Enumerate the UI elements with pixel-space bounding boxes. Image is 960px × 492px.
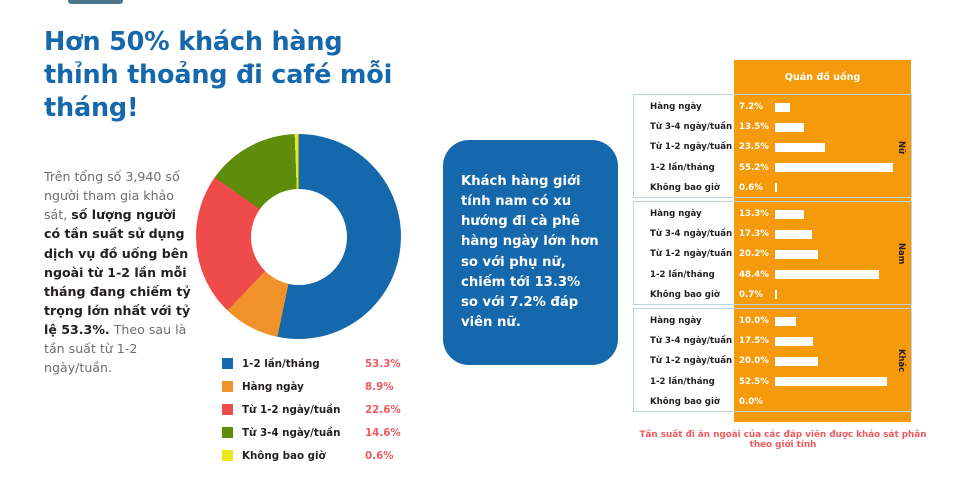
table-row: Từ 3-4 ngày/tuần17.3% <box>634 224 911 244</box>
row-value: 13.3% <box>733 209 775 219</box>
row-label: Hàng ngày <box>634 209 733 219</box>
row-label: Không bao giờ <box>634 183 733 193</box>
row-label: Không bao giờ <box>634 290 733 300</box>
legend-item: Từ 3-4 ngày/tuần14.6% <box>222 421 407 444</box>
row-label: Không bao giờ <box>634 397 733 407</box>
legend-item-value: 8.9% <box>365 381 407 393</box>
row-value: 55.2% <box>733 163 775 173</box>
insight-callout: Khách hàng giới tính nam có xu hướng đi … <box>443 140 618 365</box>
row-bar <box>775 377 887 386</box>
legend-item-label: 1-2 lần/tháng <box>242 358 365 370</box>
legend-item: Hàng ngày8.9% <box>222 375 407 398</box>
donut-chart <box>196 134 401 339</box>
row-bar <box>775 183 777 192</box>
legend-swatch-icon <box>222 404 233 415</box>
gender-group-female: Hàng ngày7.2%Từ 3-4 ngày/tuần13.5%Từ 1-2… <box>633 94 912 198</box>
donut-chart-legend: 1-2 lần/tháng53.3%Hàng ngày8.9%Từ 1-2 ng… <box>222 352 407 467</box>
row-label: Từ 1-2 ngày/tuần <box>634 249 733 259</box>
row-label: 1-2 lần/tháng <box>634 163 733 173</box>
row-bar <box>775 317 796 326</box>
table-row: Từ 3-4 ngày/tuần17.5% <box>634 331 911 351</box>
row-bar <box>775 357 818 366</box>
row-value: 20.0% <box>733 356 775 366</box>
legend-item: Không bao giờ0.6% <box>222 444 407 467</box>
panel-caption: Tần suất đi ăn ngoài của các đáp viên đư… <box>633 430 933 450</box>
legend-item-value: 53.3% <box>365 358 407 370</box>
row-value: 0.6% <box>733 183 775 193</box>
row-label: Từ 3-4 ngày/tuần <box>634 122 733 132</box>
insight-callout-text: Khách hàng giới tính nam có xu hướng đi … <box>461 172 600 333</box>
row-label: Từ 1-2 ngày/tuần <box>634 356 733 366</box>
legend-item: 1-2 lần/tháng53.3% <box>222 352 407 375</box>
row-value: 0.0% <box>733 397 775 407</box>
legend-item-label: Từ 3-4 ngày/tuần <box>242 427 365 439</box>
gender-group-label: Khác <box>891 309 913 413</box>
table-row: Không bao giờ0.6% <box>634 178 911 198</box>
intro-paragraph: Trên tổng số 3,940 số người tham gia khả… <box>44 167 196 378</box>
row-bar <box>775 270 879 279</box>
row-value: 0.7% <box>733 290 775 300</box>
row-label: Từ 3-4 ngày/tuần <box>634 229 733 239</box>
logo-fragment <box>68 0 123 4</box>
table-row: Hàng ngày13.3% <box>634 204 911 224</box>
legend-item-value: 0.6% <box>365 450 407 462</box>
row-bar <box>775 337 813 346</box>
row-value: 7.2% <box>733 102 775 112</box>
donut-hole <box>251 189 347 285</box>
page-title: Hơn 50% khách hàng thỉnh thoảng đi café … <box>44 26 394 125</box>
row-value: 17.3% <box>733 229 775 239</box>
table-row: 1-2 lần/tháng48.4% <box>634 265 911 285</box>
row-bar <box>775 250 818 259</box>
gender-breakdown-panel: Quán đồ uống Hàng ngày7.2%Từ 3-4 ngày/tu… <box>633 60 921 422</box>
row-value: 17.5% <box>733 336 775 346</box>
panel-title: Quán đồ uống <box>734 60 911 96</box>
intro-text-bold: số lượng người có tần suất sử dụng dịch … <box>44 207 191 337</box>
table-row: Không bao giờ0.7% <box>634 285 911 305</box>
legend-item-value: 14.6% <box>365 427 407 439</box>
legend-swatch-icon <box>222 450 233 461</box>
table-row: Hàng ngày10.0% <box>634 311 911 331</box>
row-label: Từ 1-2 ngày/tuần <box>634 142 733 152</box>
row-bar <box>775 143 825 152</box>
gender-group-rows: Hàng ngày7.2%Từ 3-4 ngày/tuần13.5%Từ 1-2… <box>634 95 911 198</box>
row-label: 1-2 lần/tháng <box>634 270 733 280</box>
row-label: Hàng ngày <box>634 102 733 112</box>
row-value: 20.2% <box>733 249 775 259</box>
row-bar <box>775 230 812 239</box>
legend-item: Từ 1-2 ngày/tuần22.6% <box>222 398 407 421</box>
table-row: Từ 1-2 ngày/tuần20.2% <box>634 244 911 264</box>
table-row: Từ 1-2 ngày/tuần20.0% <box>634 351 911 371</box>
gender-group-rows: Hàng ngày10.0%Từ 3-4 ngày/tuần17.5%Từ 1-… <box>634 309 911 412</box>
table-row: Từ 3-4 ngày/tuần13.5% <box>634 117 911 137</box>
legend-item-label: Hàng ngày <box>242 381 365 393</box>
row-value: 23.5% <box>733 142 775 152</box>
row-bar <box>775 290 777 299</box>
row-value: 10.0% <box>733 316 775 326</box>
table-row: Từ 1-2 ngày/tuần23.5% <box>634 137 911 157</box>
gender-group-label: Nữ <box>891 95 913 199</box>
row-value: 48.4% <box>733 270 775 280</box>
legend-item-label: Không bao giờ <box>242 450 365 462</box>
legend-swatch-icon <box>222 427 233 438</box>
row-bar <box>775 103 790 112</box>
gender-group-other: Hàng ngày10.0%Từ 3-4 ngày/tuần17.5%Từ 1-… <box>633 308 912 412</box>
row-bar <box>775 210 804 219</box>
row-label: Từ 3-4 ngày/tuần <box>634 336 733 346</box>
row-value: 52.5% <box>733 377 775 387</box>
legend-item-label: Từ 1-2 ngày/tuần <box>242 404 365 416</box>
legend-swatch-icon <box>222 358 233 369</box>
table-row: 1-2 lần/tháng55.2% <box>634 158 911 178</box>
table-row: Hàng ngày7.2% <box>634 97 911 117</box>
table-row: Không bao giờ0.0% <box>634 392 911 412</box>
row-bar <box>775 123 804 132</box>
legend-item-value: 22.6% <box>365 404 407 416</box>
table-row: 1-2 lần/tháng52.5% <box>634 372 911 392</box>
row-label: Hàng ngày <box>634 316 733 326</box>
gender-group-male: Hàng ngày13.3%Từ 3-4 ngày/tuần17.3%Từ 1-… <box>633 201 912 305</box>
row-label: 1-2 lần/tháng <box>634 377 733 387</box>
row-value: 13.5% <box>733 122 775 132</box>
legend-swatch-icon <box>222 381 233 392</box>
row-bar <box>775 163 893 172</box>
gender-group-rows: Hàng ngày13.3%Từ 3-4 ngày/tuần17.3%Từ 1-… <box>634 202 911 305</box>
gender-group-label: Nam <box>891 202 913 306</box>
